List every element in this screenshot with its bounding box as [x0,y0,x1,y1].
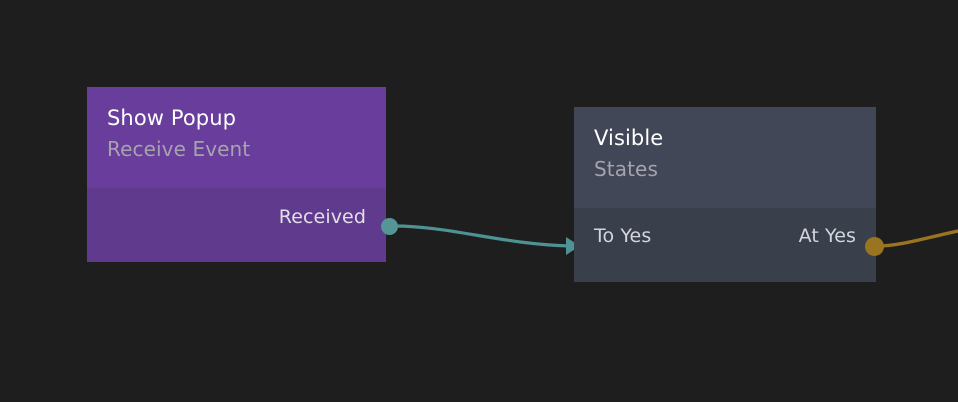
port-dot-received[interactable] [381,218,398,235]
node-show-popup-body: Received [87,188,386,262]
node-visible-body: To Yes At Yes [574,208,876,282]
graph-canvas[interactable]: Show Popup Receive Event Received Visibl… [0,0,958,402]
port-row-received: Received [87,188,386,262]
node-show-popup-subtitle: Receive Event [107,136,366,162]
node-visible-header[interactable]: Visible States [574,107,876,208]
node-show-popup[interactable]: Show Popup Receive Event Received [87,87,386,262]
node-visible[interactable]: Visible States To Yes At Yes [574,107,876,282]
edge-at-yes-outgoing [878,231,958,246]
port-label-at-yes: At Yes [799,225,856,247]
port-row-visible: To Yes At Yes [574,208,876,282]
node-show-popup-title: Show Popup [107,105,366,131]
node-visible-subtitle: States [594,156,856,182]
edge-received-to-to-yes [394,226,570,246]
port-dot-at-yes[interactable] [865,237,884,256]
node-show-popup-header[interactable]: Show Popup Receive Event [87,87,386,188]
port-label-to-yes: To Yes [594,225,651,247]
node-visible-title: Visible [594,125,856,151]
port-label-received: Received [279,206,366,228]
